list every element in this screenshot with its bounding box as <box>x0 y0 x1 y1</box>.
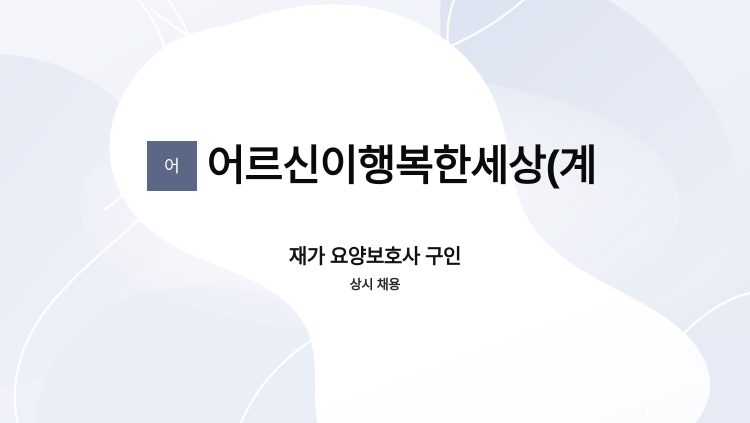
job-posting-banner: 어 어르신이행복한세상(계 재가 요양보호사 구인 상시 채용 <box>0 0 750 423</box>
banner-content: 어 어르신이행복한세상(계 재가 요양보호사 구인 상시 채용 <box>0 0 750 423</box>
company-initial-badge-label: 어 <box>164 158 180 175</box>
company-title: 어르신이행복한세상(계 <box>207 144 596 188</box>
job-position-subtitle: 재가 요양보호사 구인 <box>0 240 750 269</box>
company-title-row: 어 어르신이행복한세상(계 <box>147 141 596 191</box>
recruitment-status-tagline: 상시 채용 <box>0 274 750 293</box>
company-initial-badge-icon: 어 <box>147 141 197 191</box>
